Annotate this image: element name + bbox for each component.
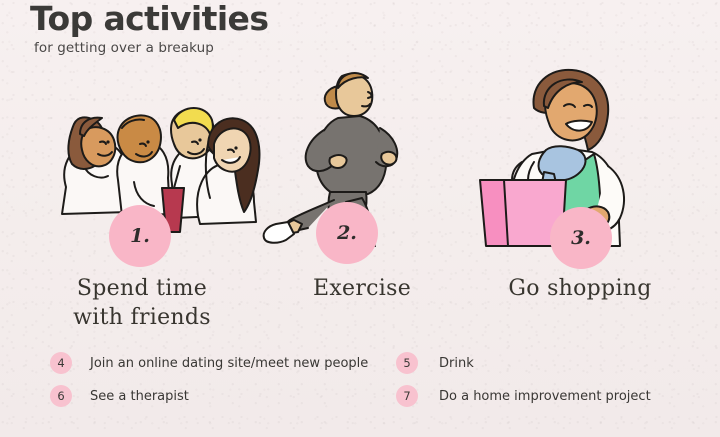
infographic-poster: Top activities for getting over a breaku… — [0, 0, 720, 437]
list-item-number: 6 — [57, 389, 64, 403]
list-item-number: 4 — [57, 356, 64, 370]
list-item-badge: 4 — [50, 352, 72, 374]
list-item-number: 7 — [403, 389, 410, 403]
caption-line: Exercise — [242, 274, 482, 303]
activity-card-1: 1. Spend time with friends — [22, 62, 262, 342]
activity-caption-2: Exercise — [242, 274, 482, 303]
caption-line: with friends — [22, 303, 262, 332]
page-subtitle: for getting over a breakup — [34, 40, 268, 56]
top-activities-row: 1. Spend time with friends — [0, 62, 720, 342]
list-item: 4 Join an online dating site/meet new pe… — [50, 352, 368, 374]
page-title: Top activities — [30, 2, 268, 37]
list-item-number: 5 — [403, 356, 410, 370]
list-item-label: Join an online dating site/meet new peop… — [90, 356, 368, 371]
list-item-badge: 7 — [396, 385, 418, 407]
list-item-badge: 6 — [50, 385, 72, 407]
activity-caption-3: Go shopping — [460, 274, 700, 303]
list-item: 6 See a therapist — [50, 385, 189, 407]
rank-number-2: 2. — [337, 222, 357, 244]
header: Top activities for getting over a breaku… — [30, 2, 268, 56]
rank-badge-2: 2. — [316, 202, 378, 264]
activity-card-2: 2. Exercise — [242, 62, 482, 342]
rank-badge-3: 3. — [550, 207, 612, 269]
list-item-label: See a therapist — [90, 389, 189, 404]
activity-caption-1: Spend time with friends — [22, 274, 262, 332]
list-item: 5 Drink — [396, 352, 474, 374]
rank-number-3: 3. — [571, 227, 591, 249]
rank-number-1: 1. — [130, 225, 150, 247]
list-item: 7 Do a home improvement project — [396, 385, 651, 407]
activity-card-3: 3. Go shopping — [460, 62, 700, 342]
caption-line: Spend time — [22, 274, 262, 303]
caption-line: Go shopping — [460, 274, 700, 303]
list-item-label: Drink — [439, 356, 474, 371]
list-item-label: Do a home improvement project — [439, 389, 651, 404]
rank-badge-1: 1. — [109, 205, 171, 267]
list-item-badge: 5 — [396, 352, 418, 374]
